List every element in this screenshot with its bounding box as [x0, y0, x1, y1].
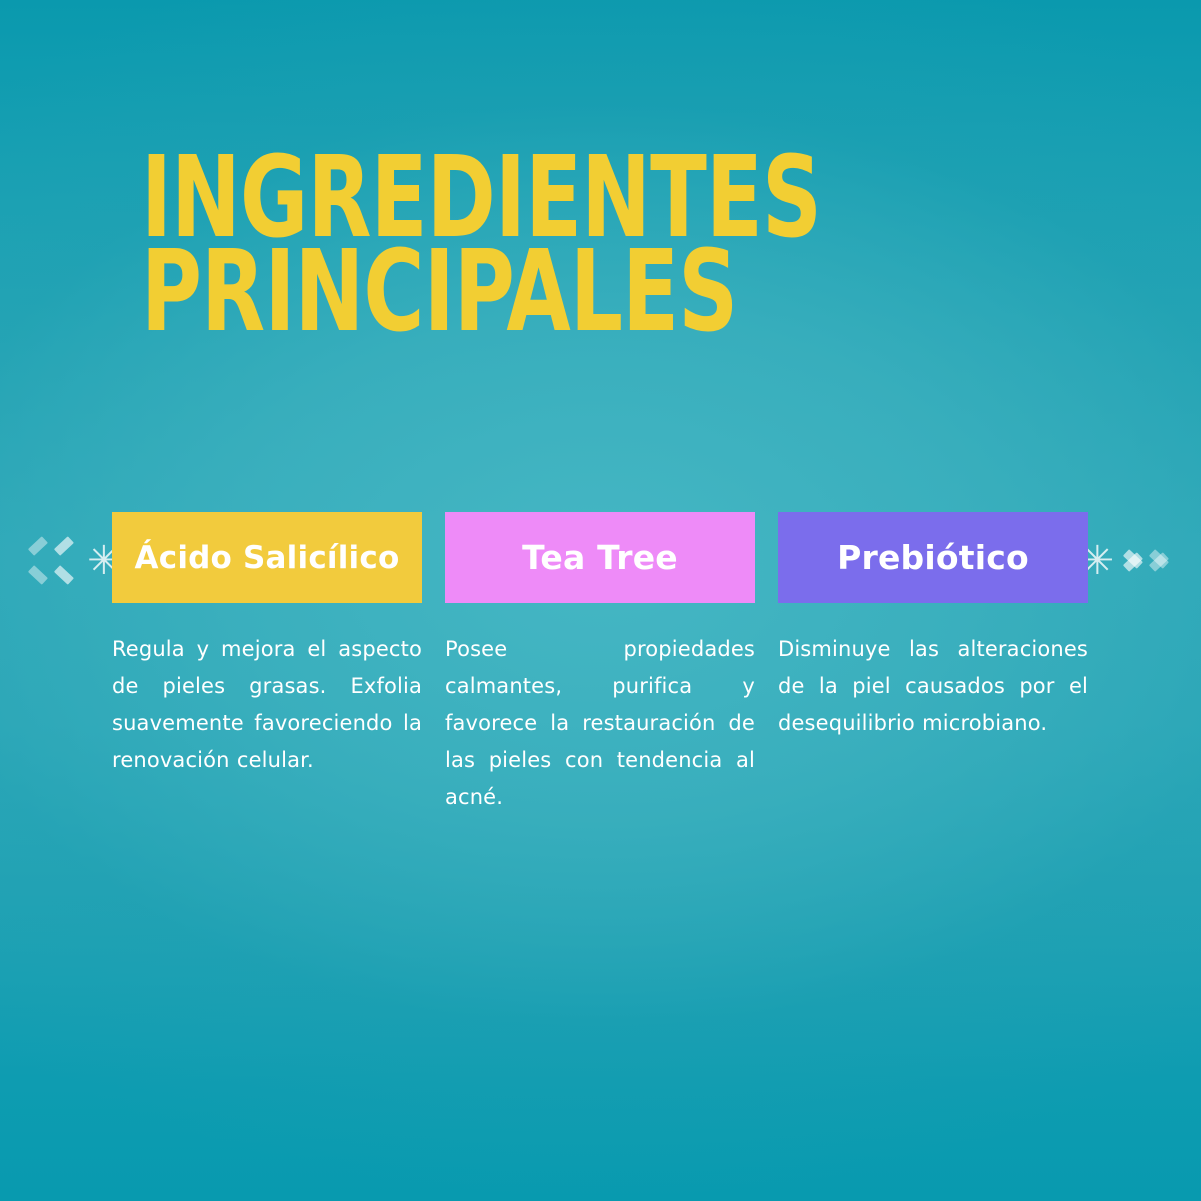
ingredient-column-2: Tea Tree Posee propiedades calmantes, pu…	[445, 512, 755, 837]
ingredient-column-3: Prebiótico Disminuye las alteraciones de…	[778, 512, 1088, 837]
decoration-left: ✳	[28, 532, 121, 590]
double-chevron-right-icon	[1123, 541, 1173, 581]
slide-canvas: Ingredientes Principales ✳ ✳ Ácido Salic…	[0, 0, 1201, 1201]
ingredient-description: Posee propiedades calmantes, purifica y …	[445, 631, 755, 816]
double-chevron-left-icon	[28, 541, 78, 581]
ingredient-card-title: Ácido Salicílico	[135, 540, 400, 576]
ingredient-card-title: Tea Tree	[522, 539, 678, 577]
ingredient-columns: Ácido Salicílico Regula y mejora el aspe…	[112, 512, 1089, 837]
ingredient-card-tea-tree[interactable]: Tea Tree	[445, 512, 755, 603]
ingredient-description: Regula y mejora el aspecto de pieles gra…	[112, 631, 422, 779]
page-title-line-2: Principales	[141, 240, 797, 342]
ingredient-card-title: Prebiótico	[837, 539, 1029, 577]
page-title: Ingredientes Principales	[141, 150, 961, 338]
decoration-right: ✳	[1080, 532, 1173, 590]
ingredient-description: Disminuye las alteraciones de la piel ca…	[778, 631, 1088, 742]
ingredient-card-acido-salicilico[interactable]: Ácido Salicílico	[112, 512, 422, 603]
ingredient-column-1: Ácido Salicílico Regula y mejora el aspe…	[112, 512, 422, 837]
ingredient-card-prebiotico[interactable]: Prebiótico	[778, 512, 1088, 603]
